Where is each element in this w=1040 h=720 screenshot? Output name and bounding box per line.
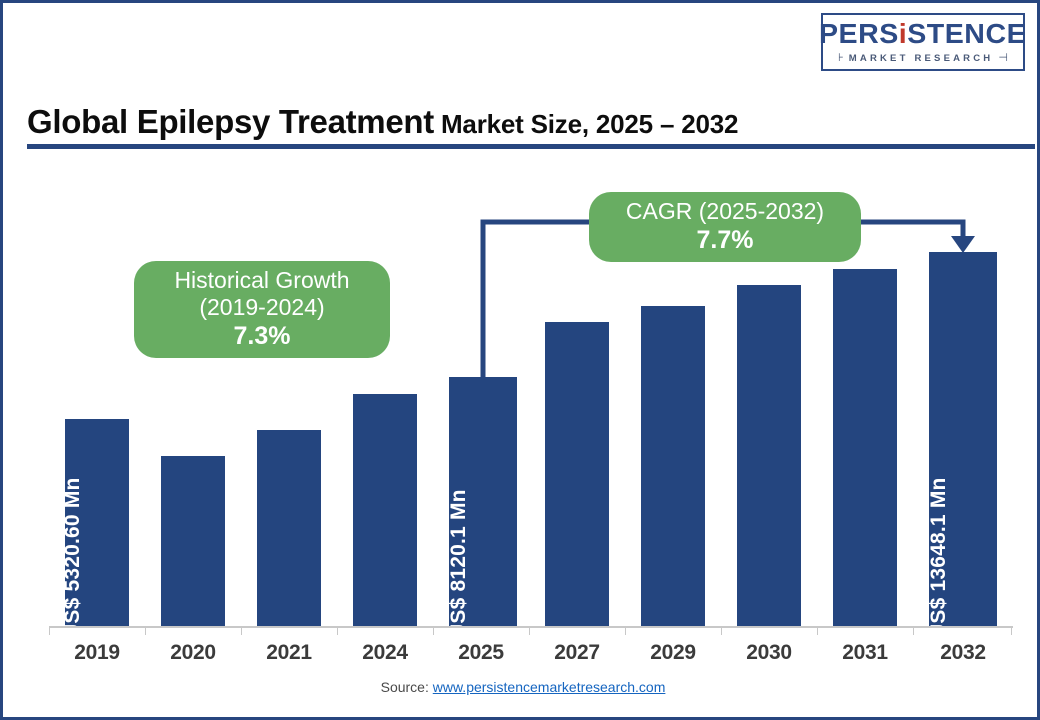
x-axis-label-2030: 2030 — [721, 641, 817, 665]
x-axis-tick — [241, 626, 242, 635]
cagr-title: CAGR (2025-2032) — [626, 198, 824, 225]
bar-2030 — [737, 285, 801, 626]
source-note: Source: www.persistencemarketresearch.co… — [3, 679, 1040, 695]
bar-value-label-2025: US$ 8120.1 Mn — [447, 489, 471, 639]
bar-2020 — [161, 456, 225, 626]
x-axis-label-2019: 2019 — [49, 641, 145, 665]
source-link[interactable]: www.persistencemarketresearch.com — [433, 679, 666, 695]
x-axis-label-2025: 2025 — [433, 641, 529, 665]
cagr-value: 7.7% — [697, 226, 754, 256]
x-axis-tick — [433, 626, 434, 635]
x-axis-label-2029: 2029 — [625, 641, 721, 665]
x-axis-tick — [625, 626, 626, 635]
bar-2024 — [353, 394, 417, 626]
x-axis-tick — [49, 626, 50, 635]
x-axis-label-2032: 2032 — [915, 641, 1011, 665]
bar-chart-plot: US$ 5320.60 Mn US$ 8120.1 Mn US$ 13648.1… — [3, 3, 1040, 720]
x-axis-label-2021: 2021 — [241, 641, 337, 665]
x-axis-tick — [913, 626, 914, 635]
x-axis-tick — [1011, 626, 1012, 635]
bar-2027 — [545, 322, 609, 626]
bar-2029 — [641, 306, 705, 626]
bar-value-label-2019: US$ 5320.60 Mn — [61, 477, 85, 639]
x-axis-tick — [145, 626, 146, 635]
chart-page: PERSiSTENCE ⊦ MARKET RESEARCH ⊣ Global E… — [0, 0, 1040, 720]
bar-2031 — [833, 269, 897, 626]
source-prefix: Source: — [381, 679, 433, 695]
historical-growth-callout: Historical Growth (2019-2024) 7.3% — [134, 261, 390, 358]
x-axis-tick — [337, 626, 338, 635]
cagr-callout: CAGR (2025-2032) 7.7% — [589, 192, 861, 262]
historical-growth-period: (2019-2024) — [199, 294, 324, 321]
x-axis-tick — [817, 626, 818, 635]
historical-growth-value: 7.3% — [234, 322, 291, 352]
x-axis-label-2027: 2027 — [529, 641, 625, 665]
bar-2021 — [257, 430, 321, 626]
x-axis-label-2024: 2024 — [337, 641, 433, 665]
x-axis-tick — [529, 626, 530, 635]
bar-value-label-2032: US$ 13648.1 Mn — [927, 477, 951, 639]
x-axis-line — [49, 626, 1013, 628]
x-axis-label-2031: 2031 — [817, 641, 913, 665]
historical-growth-title: Historical Growth — [174, 267, 349, 294]
x-axis-label-2020: 2020 — [145, 641, 241, 665]
x-axis-tick — [721, 626, 722, 635]
